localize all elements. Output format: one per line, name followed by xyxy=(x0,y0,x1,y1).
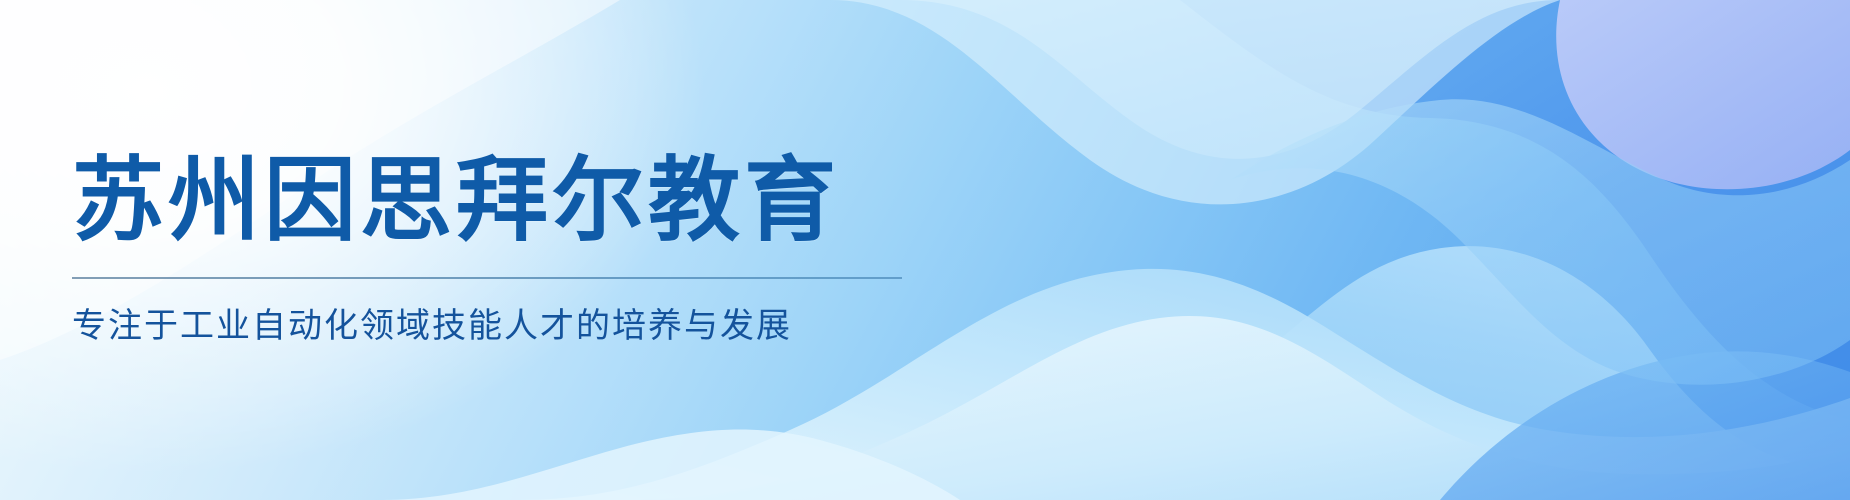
page-title: 苏州因思拜尔教育 xyxy=(72,153,972,251)
title-divider xyxy=(72,277,902,279)
page-subtitle: 专注于工业自动化领域技能人才的培养与发展 xyxy=(72,305,972,348)
site-header-banner: 苏州因思拜尔教育 专注于工业自动化领域技能人才的培养与发展 xyxy=(0,0,1850,500)
banner-content: 苏州因思拜尔教育 专注于工业自动化领域技能人才的培养与发展 xyxy=(72,0,972,500)
